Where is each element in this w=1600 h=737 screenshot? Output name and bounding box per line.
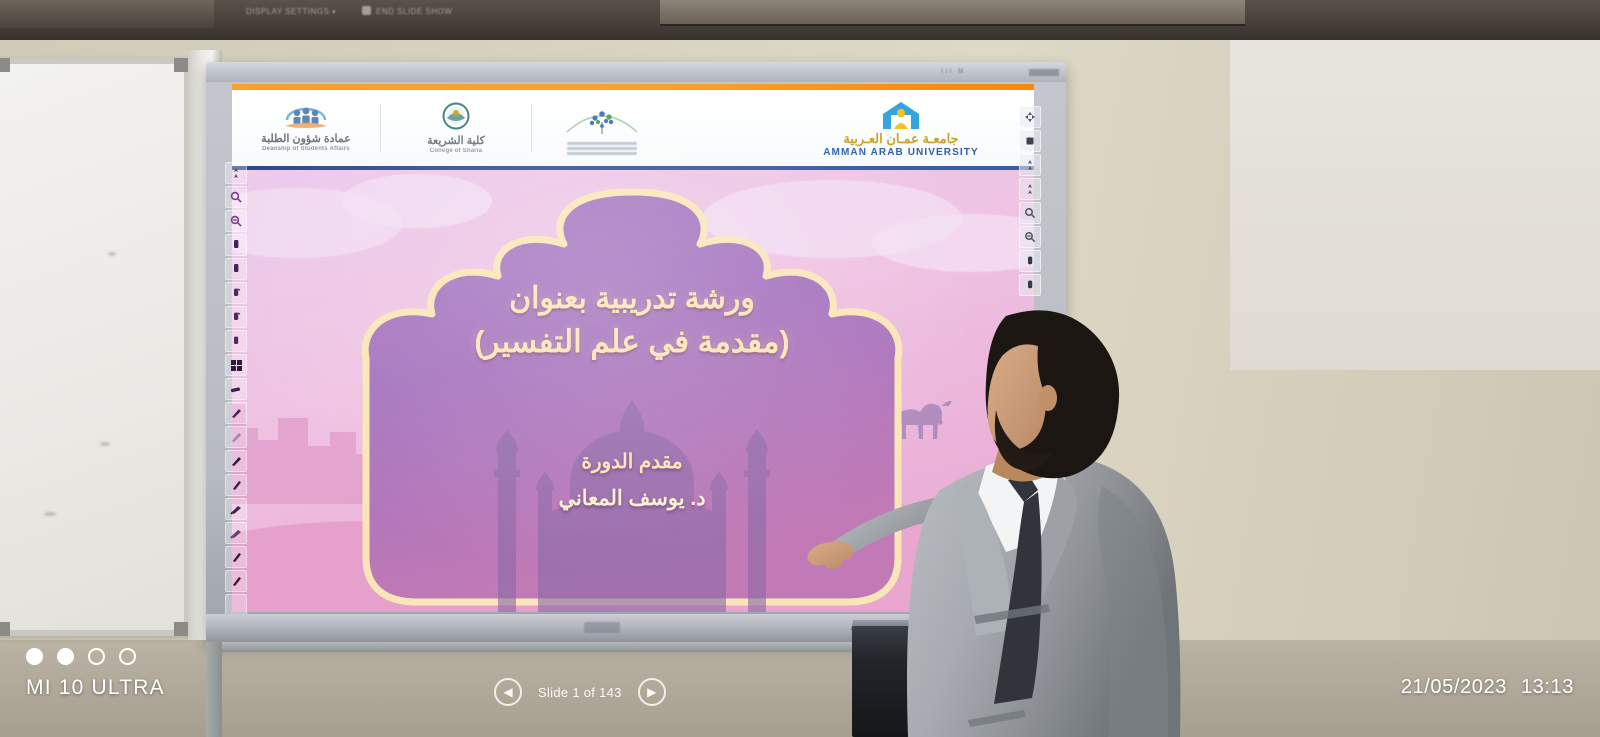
ceiling-panel-right <box>660 0 1245 26</box>
brush-icon[interactable] <box>225 522 247 544</box>
logo-deanship-students-affairs: عمادة شؤون الطلبة Deanship of Students A… <box>232 93 380 163</box>
pen-icon[interactable] <box>225 258 247 280</box>
eraser-icon[interactable] <box>225 378 247 400</box>
pen-icon[interactable] <box>225 570 247 592</box>
move-icon[interactable] <box>1019 106 1041 128</box>
logo-label-arabic: عمادة شؤون الطلبة <box>261 134 351 146</box>
aau-house-icon <box>879 99 923 131</box>
zoom-in-icon[interactable] <box>225 186 247 208</box>
presenter-hand <box>807 541 853 569</box>
select-icon[interactable] <box>1019 178 1041 200</box>
marker-icon[interactable] <box>225 450 247 472</box>
board-brand-badge <box>584 622 620 633</box>
marker-icon[interactable] <box>225 402 247 424</box>
next-slide-button[interactable]: ▶ <box>638 678 666 706</box>
zoom-out-icon[interactable] <box>225 210 247 232</box>
camera-timestamp: 21/05/202313:13 <box>1401 676 1574 699</box>
chevron-down-icon: ▾ <box>332 9 336 16</box>
brush-icon[interactable] <box>225 498 247 520</box>
whiteboard-corner <box>0 622 10 636</box>
whiteboard-corner <box>0 58 10 72</box>
slideshow-nav[interactable]: ◀ Slide 1 of 143 ▶ <box>494 678 666 706</box>
board-toolbar-right[interactable] <box>1018 106 1042 296</box>
camera-watermark-dots <box>26 648 136 665</box>
logo-label-arabic: كلية الشريعة <box>427 136 485 148</box>
slide-title-line-1: ورشة تدريبية بعنوان <box>509 282 755 315</box>
pen-icon[interactable] <box>225 306 247 328</box>
pen-icon[interactable] <box>225 330 247 352</box>
powerpoint-presenter-toolbar[interactable]: DISPLAY SETTINGS ▾ END SLIDE SHOW <box>232 2 572 20</box>
slide-counter-label: Slide 1 of 143 <box>538 685 622 700</box>
board-brand-logo <box>1029 69 1059 76</box>
board-watermark: ııı м <box>941 66 965 75</box>
select-icon[interactable] <box>1019 154 1041 176</box>
display-settings-button[interactable]: DISPLAY SETTINGS ▾ <box>246 7 336 16</box>
presenter-ear <box>1039 385 1057 411</box>
board-stand-leg-left <box>206 642 222 737</box>
whiteboard <box>0 58 190 636</box>
timestamp-date: 21/05/2023 <box>1401 676 1507 698</box>
aau-label-arabic: جامعـة عمـان العـربية <box>843 131 958 147</box>
sharia-seal-icon <box>439 102 473 134</box>
logo-amman-arab-university: جامعـة عمـان العـربية AMMAN ARAB UNIVERS… <box>784 93 1034 163</box>
students-group-icon <box>283 104 329 132</box>
zoom-in-icon[interactable] <box>1019 202 1041 224</box>
aau-label-english: AMMAN ARAB UNIVERSITY <box>823 147 979 158</box>
ceiling-light-left <box>0 0 214 28</box>
slide-title-line-2: (مقدمة في علم التفسير) <box>474 325 790 359</box>
prev-arrow-icon: ◀ <box>503 686 512 698</box>
logo-partner-tree <box>532 93 672 163</box>
board-toolbar-left[interactable] <box>224 162 248 616</box>
blank-icon[interactable] <box>225 594 247 616</box>
pen-icon[interactable] <box>1019 250 1041 272</box>
classroom-photo: DISPLAY SETTINGS ▾ END SLIDE SHOW ııı м <box>0 0 1600 737</box>
camera-model-watermark: MI 10 ULTRA <box>26 676 165 700</box>
pen-icon[interactable] <box>225 546 247 568</box>
logo-label-english: College of Sharia <box>430 148 482 154</box>
display-settings-label: DISPLAY SETTINGS <box>246 7 329 16</box>
logo-caption-placeholder <box>567 140 637 155</box>
zoom-out-icon[interactable] <box>1019 226 1041 248</box>
tree-arc-icon <box>561 102 643 140</box>
board-top-frame <box>206 62 1066 82</box>
highlighter-icon[interactable] <box>225 426 247 448</box>
slide-presenter-name: د. يوسف المعاني <box>558 486 705 511</box>
slide-presenter-label: مقدم الدورة <box>581 449 682 474</box>
presenter <box>790 290 1250 737</box>
wall-upper-white-panel <box>1230 40 1600 370</box>
prev-slide-button[interactable]: ◀ <box>494 678 522 706</box>
pen-icon[interactable] <box>225 474 247 496</box>
next-arrow-icon: ▶ <box>647 686 656 698</box>
pen-icon[interactable] <box>225 282 247 304</box>
pen-icon[interactable] <box>225 234 247 256</box>
logo-college-of-sharia: كلية الشريعة College of Sharia <box>381 93 531 163</box>
end-slide-show-button[interactable]: END SLIDE SHOW <box>362 6 452 16</box>
whiteboard-smudge <box>100 442 110 446</box>
timestamp-time: 13:13 <box>1521 676 1574 698</box>
whiteboard-smudge <box>108 252 116 256</box>
logo-label-english: Deanship of Students Affairs <box>262 146 350 152</box>
select-icon[interactable] <box>225 162 247 184</box>
capture-icon[interactable] <box>1019 130 1041 152</box>
whiteboard-smudge <box>44 512 56 516</box>
slide-header-logos: عمادة شؤون الطلبة Deanship of Students A… <box>232 90 1034 166</box>
end-show-icon <box>362 6 371 15</box>
end-slide-show-label: END SLIDE SHOW <box>376 7 452 16</box>
keyboard-icon[interactable] <box>225 354 247 376</box>
